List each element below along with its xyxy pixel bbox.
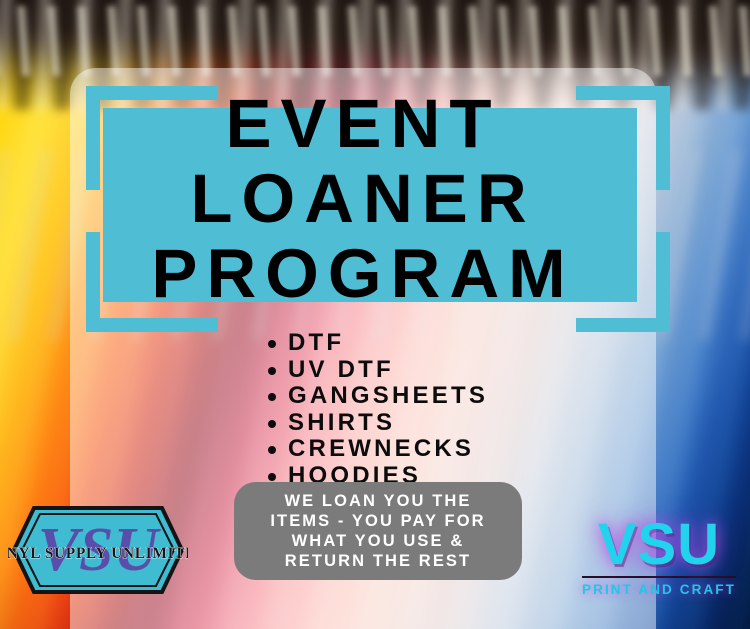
badge-wordmark: VINYL SUPPLY UNLIMITED <box>8 545 188 562</box>
list-item: UV DTF <box>262 357 488 384</box>
vsu-logo-mark: VSU <box>576 516 742 574</box>
callout-line-2: ITEMS - YOU PAY FOR <box>270 512 485 530</box>
list-item: CREWNECKS <box>262 436 488 463</box>
flyer-canvas: EVENT LOANER PROGRAM DTF UV DTF GANGSHEE… <box>0 0 750 629</box>
headline-line-3: PROGRAM <box>70 236 656 311</box>
vsu-logo-tagline: PRINT AND CRAFT <box>576 582 742 597</box>
callout-line-3: WHAT YOU USE & <box>292 532 465 550</box>
callout-line-1: WE LOAN YOU THE <box>284 492 471 510</box>
list-item: GANGSHEETS <box>262 383 488 410</box>
headline-line-2: LOANER <box>70 161 656 236</box>
list-item: SHIRTS <box>262 410 488 437</box>
headline-line-1: EVENT <box>70 86 656 161</box>
vsu-print-and-craft-logo: VSU PRINT AND CRAFT <box>576 516 742 608</box>
list-item: DTF <box>262 330 488 357</box>
callout-line-4: RETURN THE REST <box>285 552 471 570</box>
services-list: DTF UV DTF GANGSHEETS SHIRTS CREWNECKS H… <box>262 330 488 489</box>
vinyl-supply-unlimited-badge-logo: VSU VINYL SUPPLY UNLIMITED <box>8 500 188 600</box>
headline: EVENT LOANER PROGRAM <box>70 86 656 311</box>
terms-callout-box: WE LOAN YOU THE ITEMS - YOU PAY FOR WHAT… <box>234 482 522 580</box>
